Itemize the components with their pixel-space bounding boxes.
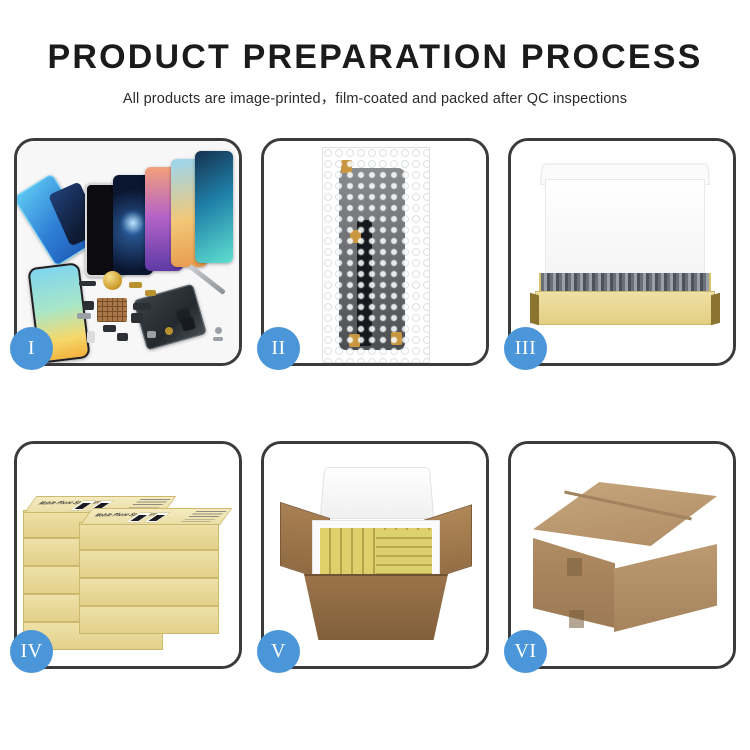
page-subtitle: All products are image-printed，film-coat… <box>0 87 750 108</box>
step-badge-1: I <box>10 327 53 370</box>
step-5-image <box>264 444 486 666</box>
step-badge-3: III <box>504 327 547 370</box>
speaker-component <box>103 271 122 290</box>
step-4-image: Mobile Phone Spare Parts Mobile Phone Sp… <box>17 444 239 666</box>
part-bit <box>131 313 143 323</box>
part-bit <box>147 331 156 338</box>
part-bit <box>133 303 151 310</box>
process-step-4: Mobile Phone Spare Parts Mobile Phone Sp… <box>14 441 242 669</box>
part-bit <box>129 282 142 288</box>
part-bit <box>117 333 128 341</box>
stacked-box <box>79 606 219 634</box>
carton-tab <box>567 558 582 576</box>
process-step-5: V <box>261 441 489 669</box>
box-spec-text <box>178 511 227 524</box>
box-top-face: Mobile Phone Spare Parts <box>80 508 232 525</box>
part-bit <box>145 290 156 296</box>
styrofoam-lid <box>320 467 435 519</box>
bubble-texture <box>323 148 429 362</box>
part-bit <box>213 337 223 341</box>
part-bit <box>215 327 222 334</box>
phone-screen-teal <box>195 151 233 263</box>
carton-right-face <box>614 544 717 632</box>
step-2-image <box>264 141 486 363</box>
page-title: PRODUCT PREPARATION PROCESS <box>0 40 750 76</box>
step-1-image <box>17 141 239 363</box>
process-step-6: VI <box>508 441 736 669</box>
logic-board-chip <box>97 298 127 322</box>
product-preparation-infographic: PRODUCT PREPARATION PROCESS All products… <box>0 0 750 750</box>
part-bit <box>77 313 91 319</box>
stacked-box: Mobile Phone Spare Parts <box>79 522 219 550</box>
yellow-box-base <box>535 291 715 325</box>
process-step-grid: I II <box>14 138 736 698</box>
stacked-box <box>79 578 219 606</box>
process-step-3: III <box>508 138 736 366</box>
step-badge-6: VI <box>504 630 547 673</box>
header: PRODUCT PREPARATION PROCESS All products… <box>0 0 750 108</box>
blue-screen-protector <box>17 173 95 267</box>
part-bit <box>87 331 95 343</box>
foam-sheet <box>545 179 705 277</box>
carton-top-face <box>533 482 717 546</box>
bubble-wrap-bag <box>322 147 430 363</box>
box-stack: Mobile Phone Spare Parts Mobile Phone Sp… <box>23 468 239 654</box>
stacked-box <box>79 550 219 578</box>
step-badge-5: V <box>257 630 300 673</box>
carton-tab <box>569 610 584 628</box>
step-6-image <box>511 444 733 666</box>
step-badge-4: IV <box>10 630 53 673</box>
process-step-2: II <box>261 138 489 366</box>
part-bit <box>103 325 116 332</box>
part-bit <box>83 301 94 310</box>
part-bit <box>165 327 173 335</box>
process-step-1: I <box>14 138 242 366</box>
part-bit <box>79 281 96 286</box>
carton-front <box>304 574 448 640</box>
yellow-boxes-row <box>376 530 432 574</box>
step-badge-2: II <box>257 327 300 370</box>
step-3-image <box>511 141 733 363</box>
